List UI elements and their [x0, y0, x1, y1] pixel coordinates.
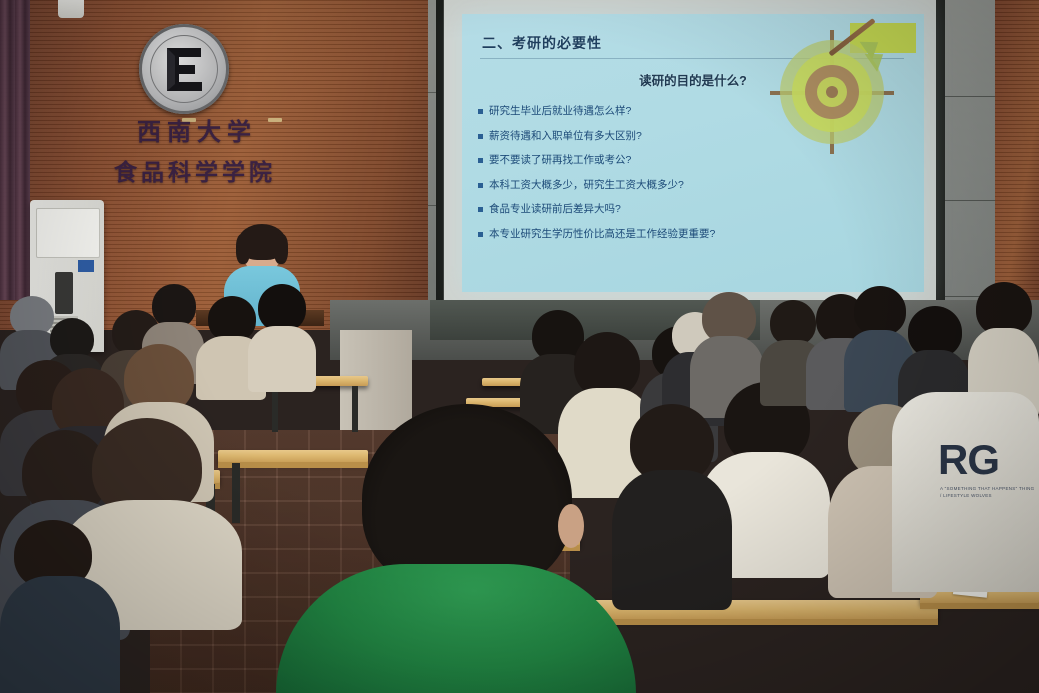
school-name-line2: 食品科学学院	[108, 153, 282, 187]
student	[248, 284, 316, 388]
seal-mark-icon	[161, 44, 207, 94]
bullet-square-icon	[478, 158, 483, 163]
school-name-plate: 西南大学 食品科学学院	[112, 112, 282, 187]
list-item: 研究生毕业后就业待遇怎么样?	[478, 106, 758, 118]
classroom-photo: 西南大学 食品科学学院 二、考研的必要性 读研的目的是什么? 研究生毕业后就业待…	[0, 0, 1039, 693]
student-rg-jacket: RG A "SOMETHING THAT HAPPENS" THING / LI…	[892, 392, 1039, 592]
school-name-line1: 西南大学	[112, 112, 282, 147]
list-item: 要不要读了研再找工作或考公?	[478, 155, 758, 167]
curtain	[0, 0, 30, 300]
bullet-text: 要不要读了研再找工作或考公?	[489, 155, 631, 167]
bullet-text: 薪资待遇和入职单位有多大区别?	[489, 131, 642, 143]
list-item: 薪资待遇和入职单位有多大区别?	[478, 131, 758, 143]
list-item: 本专业研究生学历性价比高还是工作经验更重要?	[478, 229, 758, 241]
presentation-slide: 二、考研的必要性 读研的目的是什么? 研究生毕业后就业待遇怎么样? 薪资待遇和入…	[462, 14, 924, 292]
bullet-text: 食品专业读研前后差异大吗?	[489, 204, 621, 216]
bullet-square-icon	[478, 109, 483, 114]
jacket-sub-text: A "SOMETHING THAT HAPPENS" THING / LIFES…	[940, 486, 1036, 500]
bullet-text: 本科工资大概多少，研究生工资大概多少?	[489, 180, 684, 192]
bullet-square-icon	[478, 134, 483, 139]
slide-title: 二、考研的必要性	[482, 33, 602, 53]
university-seal-icon	[139, 24, 229, 114]
foreground-student-green-shirt	[276, 404, 636, 693]
bullet-square-icon	[478, 207, 483, 212]
slide-bullet-list: 研究生毕业后就业待遇怎么样? 薪资待遇和入职单位有多大区别? 要不要读了研再找工…	[478, 106, 758, 253]
target-with-arrow-icon	[762, 22, 902, 162]
wall-speaker	[58, 0, 84, 18]
bullet-square-icon	[478, 232, 483, 237]
list-item: 食品专业读研前后差异大吗?	[478, 204, 758, 216]
list-item: 本科工资大概多少，研究生工资大概多少?	[478, 180, 758, 192]
bullet-square-icon	[478, 183, 483, 188]
bullet-text: 研究生毕业后就业待遇怎么样?	[489, 106, 631, 118]
jacket-logo: RG	[938, 436, 999, 484]
student	[0, 520, 120, 693]
bullet-text: 本专业研究生学历性价比高还是工作经验更重要?	[489, 229, 715, 241]
